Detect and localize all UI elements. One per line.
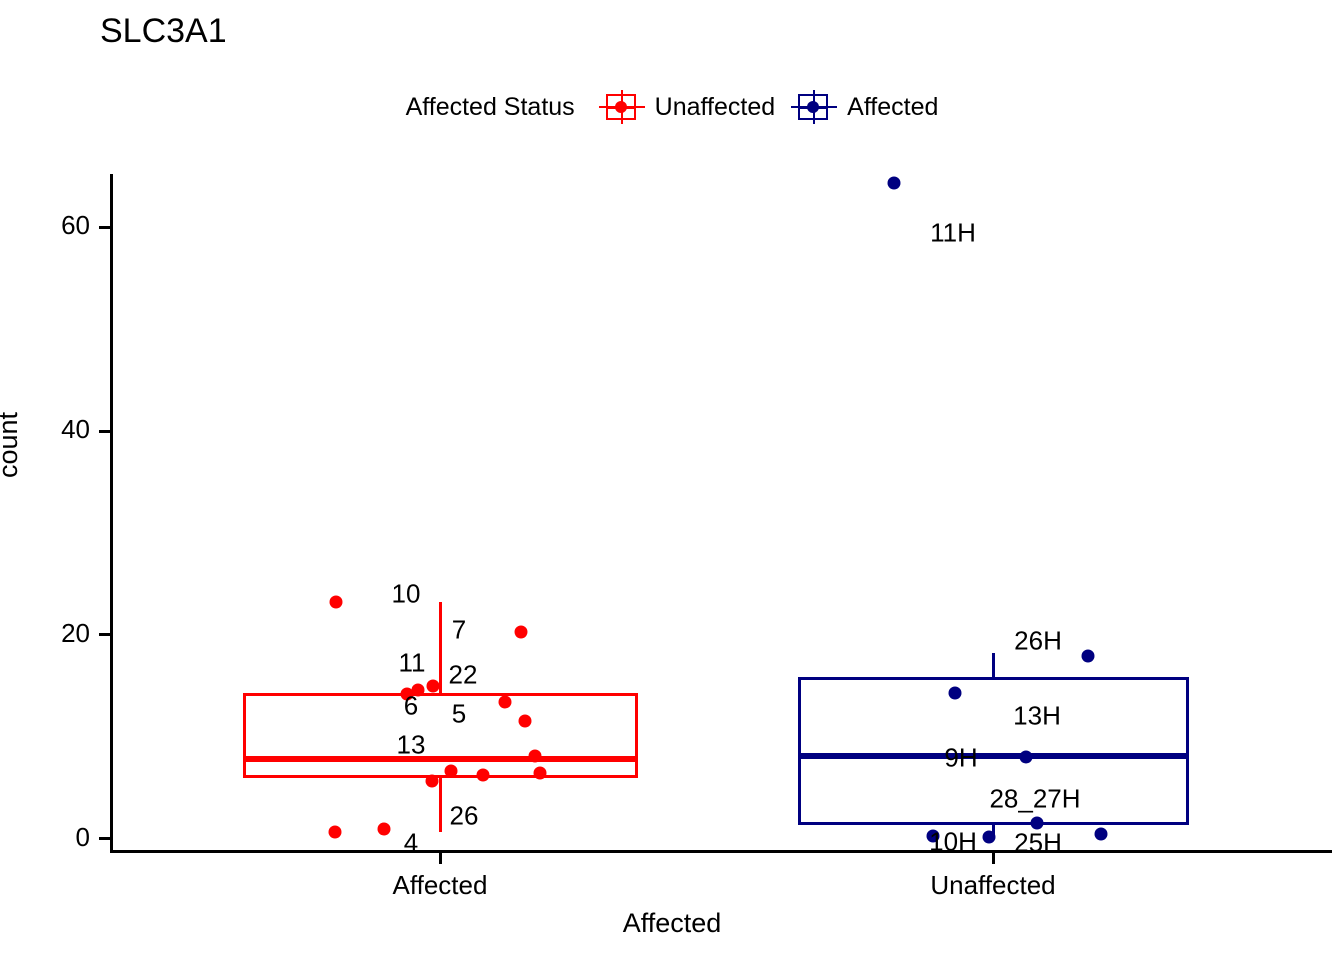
y-axis-title: count bbox=[0, 412, 24, 478]
legend-item-affected[interactable]: Affected bbox=[791, 90, 938, 124]
data-point-label: 22 bbox=[449, 660, 478, 691]
y-axis-tick bbox=[99, 837, 110, 840]
data-point[interactable] bbox=[477, 769, 490, 782]
boxplot-key-icon bbox=[791, 90, 837, 124]
data-point-label: 7 bbox=[452, 615, 466, 646]
data-point[interactable] bbox=[378, 823, 391, 836]
y-axis-tick-label: 20 bbox=[61, 618, 90, 649]
data-point-label: 5 bbox=[452, 699, 466, 730]
whisker-upper bbox=[992, 653, 995, 676]
data-point[interactable] bbox=[445, 765, 458, 778]
data-point-label: 13H bbox=[1013, 701, 1061, 732]
data-point-label: 6 bbox=[404, 691, 418, 722]
legend-title: Affected Status bbox=[406, 93, 575, 122]
data-point-label: 11H bbox=[930, 218, 976, 249]
data-point[interactable] bbox=[330, 596, 343, 609]
legend-label-affected: Affected bbox=[847, 93, 938, 122]
data-point[interactable] bbox=[426, 775, 439, 788]
y-axis-tick bbox=[99, 226, 110, 229]
x-axis-title: Affected bbox=[0, 908, 1344, 939]
legend-item-unaffected[interactable]: Unaffected bbox=[599, 90, 775, 124]
data-point[interactable] bbox=[519, 715, 532, 728]
y-axis-tick-label: 60 bbox=[61, 210, 90, 241]
data-point-label: 25H bbox=[1014, 828, 1062, 859]
y-axis-tick bbox=[99, 633, 110, 636]
data-point[interactable] bbox=[499, 696, 512, 709]
page-title: SLC3A1 bbox=[100, 12, 227, 51]
whisker-lower bbox=[439, 778, 442, 832]
data-point-label: 11 bbox=[399, 648, 426, 679]
data-point[interactable] bbox=[983, 831, 996, 844]
data-point-label: 10H bbox=[929, 827, 977, 858]
data-point-label: 9H bbox=[944, 743, 977, 774]
data-point[interactable] bbox=[427, 679, 440, 692]
data-point-label: 13 bbox=[397, 730, 426, 761]
y-axis-tick-label: 0 bbox=[76, 822, 90, 853]
data-point-label: 4 bbox=[404, 828, 418, 859]
whisker-upper bbox=[439, 602, 442, 693]
data-point[interactable] bbox=[888, 176, 901, 189]
data-point[interactable] bbox=[515, 625, 528, 638]
y-axis-tick bbox=[99, 430, 110, 433]
data-point-label: 28_27H bbox=[989, 784, 1080, 815]
data-point-label: 10 bbox=[392, 579, 421, 610]
box-iqr bbox=[243, 693, 638, 779]
data-point-label: 26H bbox=[1014, 626, 1062, 657]
data-point-label: 26 bbox=[450, 801, 479, 832]
data-point[interactable] bbox=[329, 826, 342, 839]
data-point[interactable] bbox=[949, 686, 962, 699]
x-axis-tick-label: Affected bbox=[393, 870, 488, 901]
data-point[interactable] bbox=[1082, 650, 1095, 663]
legend-label-unaffected: Unaffected bbox=[655, 93, 775, 122]
data-point[interactable] bbox=[534, 767, 547, 780]
median-line bbox=[243, 756, 638, 762]
data-point[interactable] bbox=[1095, 828, 1108, 841]
x-axis-tick bbox=[992, 853, 995, 864]
legend: Affected Status Unaffected Affected bbox=[0, 90, 1344, 124]
y-axis-line bbox=[110, 174, 113, 852]
x-axis-tick bbox=[439, 853, 442, 864]
data-point[interactable] bbox=[1020, 751, 1033, 764]
data-point[interactable] bbox=[529, 750, 542, 763]
x-axis-tick-label: Unaffected bbox=[930, 870, 1055, 901]
median-line bbox=[798, 753, 1189, 759]
y-axis-tick-label: 40 bbox=[61, 414, 90, 445]
boxplot-key-icon bbox=[599, 90, 645, 124]
x-axis-line bbox=[110, 850, 1332, 853]
plot-root: SLC3A1 Affected Status Unaffected bbox=[0, 0, 1344, 960]
